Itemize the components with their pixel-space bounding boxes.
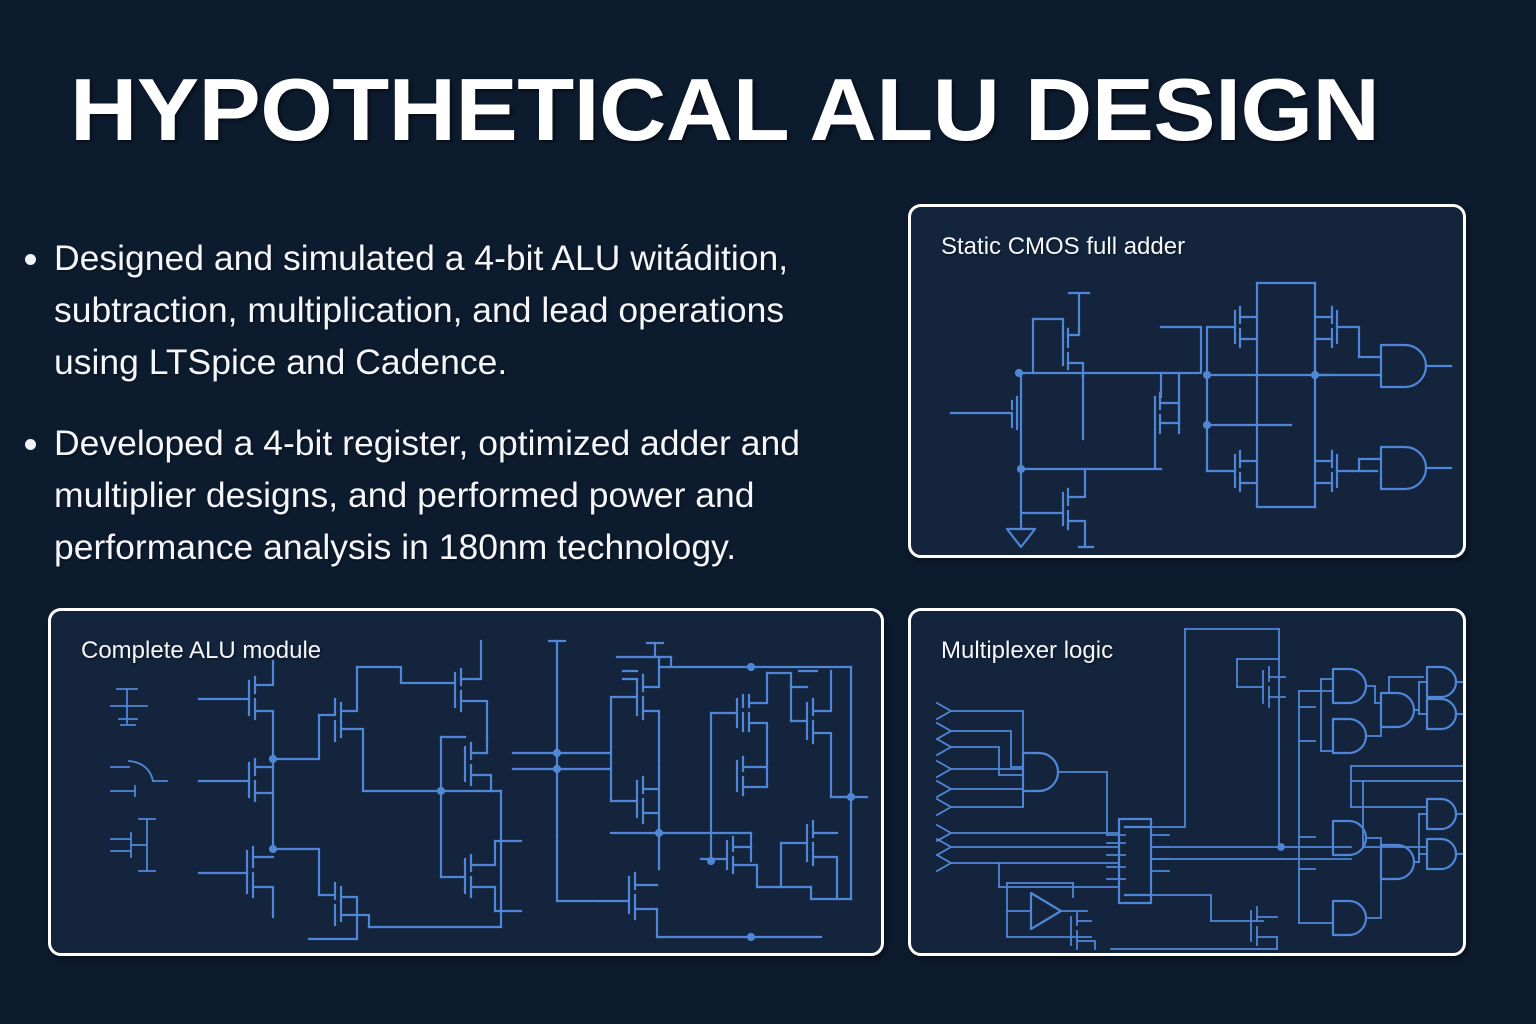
input-arrow-icons <box>937 703 951 871</box>
bullet-dot-icon <box>25 439 36 450</box>
card-static-cmos-full-adder: Static CMOS full adder <box>908 204 1466 558</box>
page-title: HYPOTHETICAL ALU DESIGN <box>70 66 1536 154</box>
and-gate-icon <box>1333 901 1366 935</box>
and-gate-icon <box>1427 839 1456 869</box>
bullet-list: Designed and simulated a 4-bit ALU witád… <box>18 232 878 601</box>
and-gate-icon <box>1333 669 1366 703</box>
list-item: Designed and simulated a 4-bit ALU witád… <box>18 232 878 389</box>
and-gate-icon <box>1381 845 1414 879</box>
and-gate-icon <box>1023 753 1058 791</box>
card-complete-alu-module: Complete ALU module <box>48 608 884 956</box>
list-item: Developed a 4-bit register, optimized ad… <box>18 417 878 574</box>
card-multiplexer-logic: Multiplexer logic <box>908 608 1466 956</box>
schematic-complete-alu-module <box>51 611 881 953</box>
and-gate-icon <box>1333 719 1366 753</box>
bullet-dot-icon <box>25 254 36 265</box>
slide-root: HYPOTHETICAL ALU DESIGN Designed and sim… <box>0 0 1536 1024</box>
and-gate-icon <box>1381 345 1426 387</box>
and-gate-icon <box>1427 799 1456 829</box>
and-gate-icon <box>1427 699 1456 729</box>
and-gate-icon <box>1427 667 1456 697</box>
schematic-multiplexer-logic <box>911 611 1463 953</box>
bullet-text-2: Developed a 4-bit register, optimized ad… <box>54 417 864 574</box>
schematic-static-cmos-full-adder <box>911 207 1463 555</box>
and-gate-icon <box>1381 447 1426 489</box>
buffer-triangle-icon <box>1031 893 1061 929</box>
and-gate-icon <box>1381 693 1414 727</box>
bullet-text-1: Designed and simulated a 4-bit ALU witád… <box>54 232 864 389</box>
and-gate-icon <box>1333 821 1366 855</box>
mux-block <box>1119 819 1151 903</box>
